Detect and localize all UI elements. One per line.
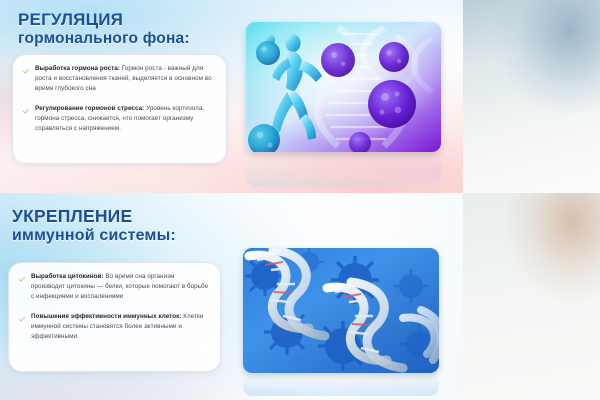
speaker-video-tile-top[interactable]	[463, 0, 600, 193]
slide-title-line2: иммунной системы:	[12, 227, 176, 246]
bullet-text: Регулирование гормонов стресса: Уровень …	[35, 104, 216, 135]
illustration-reflection	[246, 153, 441, 187]
check-icon	[22, 66, 31, 75]
illustration-dna-virus	[243, 248, 439, 373]
bullet-text: Повышение эффективности иммунных клеток:…	[31, 312, 210, 343]
illustration-reflection	[243, 374, 439, 396]
bullet-item: Повышение эффективности иммунных клеток:…	[18, 312, 210, 343]
bullet-item: Выработка цитокинов: Во время сна органи…	[18, 272, 210, 303]
reflection-svg	[246, 153, 441, 187]
presentation-screenshot: РЕГУЛЯЦИЯ гормонального фона:	[0, 0, 600, 400]
slide-immune-strengthening: УКРЕПЛЕНИЕ иммунной системы:	[0, 193, 463, 400]
bullet-lead: Повышение эффективности иммунных клеток:	[31, 313, 181, 320]
slide-panel-hormone-regulation: РЕГУЛЯЦИЯ гормонального фона:	[0, 0, 600, 193]
video-background	[463, 193, 600, 400]
bullet-card-immune-strengthening: Выработка цитокинов: Во время сна органи…	[8, 262, 221, 372]
slide-title-immune-strengthening: УКРЕПЛЕНИЕ иммунной системы:	[12, 206, 176, 246]
video-background	[463, 0, 600, 193]
check-icon	[18, 314, 27, 323]
slide-title-line1: РЕГУЛЯЦИЯ	[18, 10, 123, 29]
slide-title-line1: УКРЕПЛЕНИЕ	[12, 206, 132, 226]
bullet-lead: Регулирование гормонов стресса:	[35, 105, 144, 112]
bullet-item: Регулирование гормонов стресса: Уровень …	[22, 104, 216, 135]
runner-dna-svg	[246, 22, 441, 152]
bullet-card-hormone-regulation: Выработка гормона роста: Гормон роста - …	[12, 54, 227, 164]
check-icon	[18, 274, 27, 283]
bullet-text: Выработка гормона роста: Гормон роста - …	[35, 64, 216, 95]
slide-hormone-regulation: РЕГУЛЯЦИЯ гормонального фона:	[0, 0, 463, 193]
bullet-text: Выработка цитокинов: Во время сна органи…	[31, 272, 210, 303]
slide-title-hormone-regulation: РЕГУЛЯЦИЯ гормонального фона:	[18, 10, 190, 49]
illustration-runner-dna	[246, 22, 441, 152]
check-icon	[22, 106, 31, 115]
reflection-svg	[243, 374, 439, 396]
slide-title-line2: гормонального фона:	[18, 30, 190, 48]
bullet-lead: Выработка цитокинов:	[31, 273, 104, 280]
dna-virus-svg	[243, 248, 439, 373]
speaker-video-tile-bottom[interactable]	[463, 193, 600, 400]
bullet-item: Выработка гормона роста: Гормон роста - …	[22, 64, 216, 95]
slide-panel-immune-strengthening: УКРЕПЛЕНИЕ иммунной системы:	[0, 193, 600, 400]
bullet-lead: Выработка гормона роста:	[35, 65, 120, 72]
